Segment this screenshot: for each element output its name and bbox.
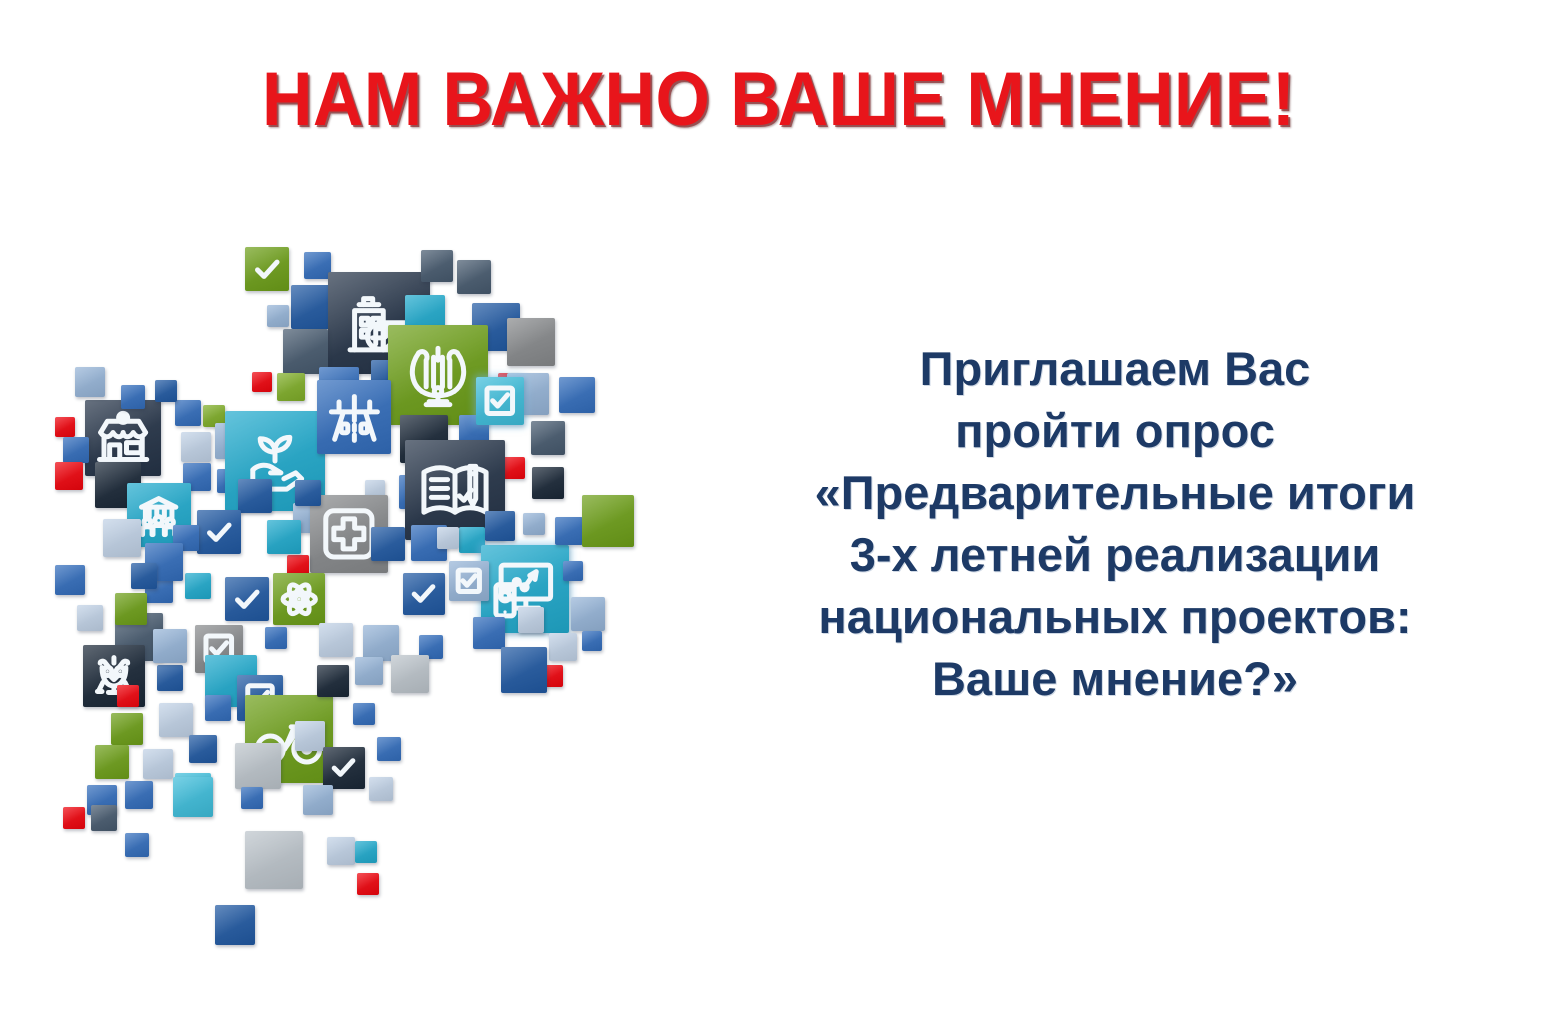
mosaic-tile [357,873,379,895]
mosaic-tile [355,841,377,863]
mosaic-tile [55,565,85,595]
slide-root: НАМ ВАЖНО ВАШЕ МНЕНИЕ! Приглашаем Вас пр… [0,0,1557,1024]
page-title: НАМ ВАЖНО ВАШЕ МНЕНИЕ! [262,62,1296,138]
check-box-icon [476,377,524,425]
mosaic-tile [277,373,305,401]
mosaic-tile [507,318,555,366]
mosaic-tile [245,831,303,889]
mosaic-tile [369,777,393,801]
mosaic-tile [175,400,201,426]
mosaic-tile [265,627,287,649]
mosaic-tile [55,417,75,437]
check-box-icon [449,561,489,601]
mosaic-tile [295,721,325,751]
mosaic-tile [523,513,545,535]
mosaic-tile [159,703,193,737]
mosaic-tile [125,781,153,809]
mosaic-tile [531,421,565,455]
mosaic-tile [55,462,83,490]
mosaic-tile [304,252,331,279]
mosaic-tile [563,561,583,581]
check-icon [197,510,241,554]
mosaic-tile [181,432,211,462]
mosaic-tile [63,807,85,829]
mosaic-tile [582,631,602,651]
check-icon [403,573,445,615]
check-icon [245,247,289,291]
invitation-line-5: национальных проектов: [700,586,1530,648]
mosaic-tile [121,385,145,409]
mosaic-tile [153,629,187,663]
mosaic-tile [501,647,547,693]
mosaic-tile [267,520,301,554]
mosaic-tile [235,743,281,789]
invitation-line-1: Приглашаем Вас [700,338,1530,400]
mosaic-tile [457,260,491,294]
mosaic-tile [317,665,349,697]
mosaic-tile [518,607,544,633]
title-block: НАМ ВАЖНО ВАШЕ МНЕНИЕ! [0,62,1557,138]
mosaic-tile [185,573,211,599]
mosaic-tile [157,665,183,691]
mosaic-tile [421,250,453,282]
lyre-icon [388,325,488,425]
invitation-line-2: пройти опрос [700,400,1530,462]
invitation-line-6: Ваше мнение?» [700,648,1530,710]
mosaic-tile [111,713,143,745]
mosaic-tile [75,367,105,397]
mosaic-tile [115,593,147,625]
mosaic-tile [377,737,401,761]
mosaic-tile [241,787,263,809]
mosaic-tile [303,785,333,815]
mosaic-tile [485,511,515,541]
mosaic-tile [295,480,321,506]
atom-icon [273,573,325,625]
mosaic-tile [503,457,525,479]
mosaic-tile [532,467,564,499]
mosaic-tile [91,805,117,831]
mosaic-tile [143,749,173,779]
mosaic-tile [571,597,605,631]
mosaic-graphic [55,225,715,945]
mosaic-tile [473,617,505,649]
mosaic-tile [252,372,272,392]
mosaic-tile [155,380,177,402]
mosaic-tile [371,527,405,561]
mosaic-tile [205,695,231,721]
mosaic-tile [63,437,89,463]
check-icon [323,747,365,789]
mosaic-tile [131,563,157,589]
mosaic-tile [549,633,577,661]
mosaic-tile [355,657,383,685]
road-icon [317,380,391,454]
mosaic-tile [353,703,375,725]
mosaic-tile [327,837,355,865]
invitation-line-4: 3-х летней реализации [700,524,1530,586]
mosaic-tile [267,305,289,327]
mosaic-tile [189,735,217,763]
invitation-block: Приглашаем Вас пройти опрос «Предварител… [700,338,1530,710]
mosaic-tile [125,833,149,857]
mosaic-tile [103,519,141,557]
mosaic-tile [117,685,139,707]
mosaic-tile [215,905,255,945]
mosaic-tile [77,605,103,631]
check-icon [225,577,269,621]
mosaic-tile [437,527,459,549]
mosaic-tile [319,623,353,657]
mosaic-tile [391,655,429,693]
mosaic-tile [559,377,595,413]
mosaic-tile [582,495,634,547]
mosaic-tile [173,777,213,817]
mosaic-tile [95,745,129,779]
invitation-line-3: «Предварительные итоги [700,462,1530,524]
mosaic-tile [238,479,272,513]
mosaic-tile [555,517,583,545]
